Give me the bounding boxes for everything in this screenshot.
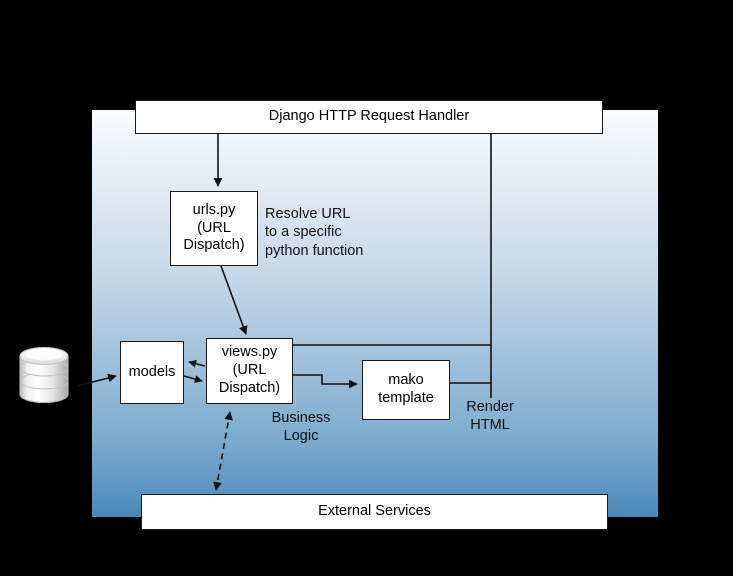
database-cylinder-icon	[18, 345, 70, 405]
annotation-resolve-url: Resolve URL to a specific python functio…	[265, 205, 363, 260]
resolve-label-line2: to a specific	[265, 223, 363, 241]
business-label-line1: Business	[262, 409, 340, 427]
node-box-external-services[interactable]: External Services	[141, 494, 608, 530]
resolve-label-line3: python function	[265, 242, 363, 260]
urls-box-line3: Dispatch)	[183, 237, 244, 255]
urls-box-line1: urls.py	[183, 202, 244, 220]
node-box-mako-template[interactable]: mako template	[362, 360, 450, 420]
external-box-label: External Services	[318, 503, 431, 521]
annotation-business-logic: Business Logic	[262, 409, 340, 446]
annotation-render-html: Render HTML	[458, 398, 522, 435]
header-box-label: Django HTTP Request Handler	[269, 108, 469, 126]
urls-box-line2: (URL	[183, 220, 244, 238]
node-box-urls-py[interactable]: urls.py (URL Dispatch)	[170, 191, 258, 266]
header-box-django-http-request-handler[interactable]: Django HTTP Request Handler	[135, 100, 603, 134]
render-label-line1: Render	[458, 398, 522, 416]
models-box-label: models	[129, 364, 176, 382]
views-box-line3: Dispatch)	[219, 380, 280, 398]
node-box-views-py[interactable]: views.py (URL Dispatch)	[206, 338, 293, 404]
node-box-models[interactable]: models	[120, 341, 184, 404]
mako-box-line2: template	[378, 390, 434, 408]
diagram-canvas: Django HTTP Request Handler urls.py (URL…	[0, 0, 733, 576]
views-box-line2: (URL	[219, 362, 280, 380]
resolve-label-line1: Resolve URL	[265, 205, 363, 223]
mako-box-line1: mako	[378, 372, 434, 390]
business-label-line2: Logic	[262, 427, 340, 445]
views-box-line1: views.py	[219, 344, 280, 362]
gradient-backdrop	[92, 110, 658, 517]
render-label-line2: HTML	[458, 416, 522, 434]
